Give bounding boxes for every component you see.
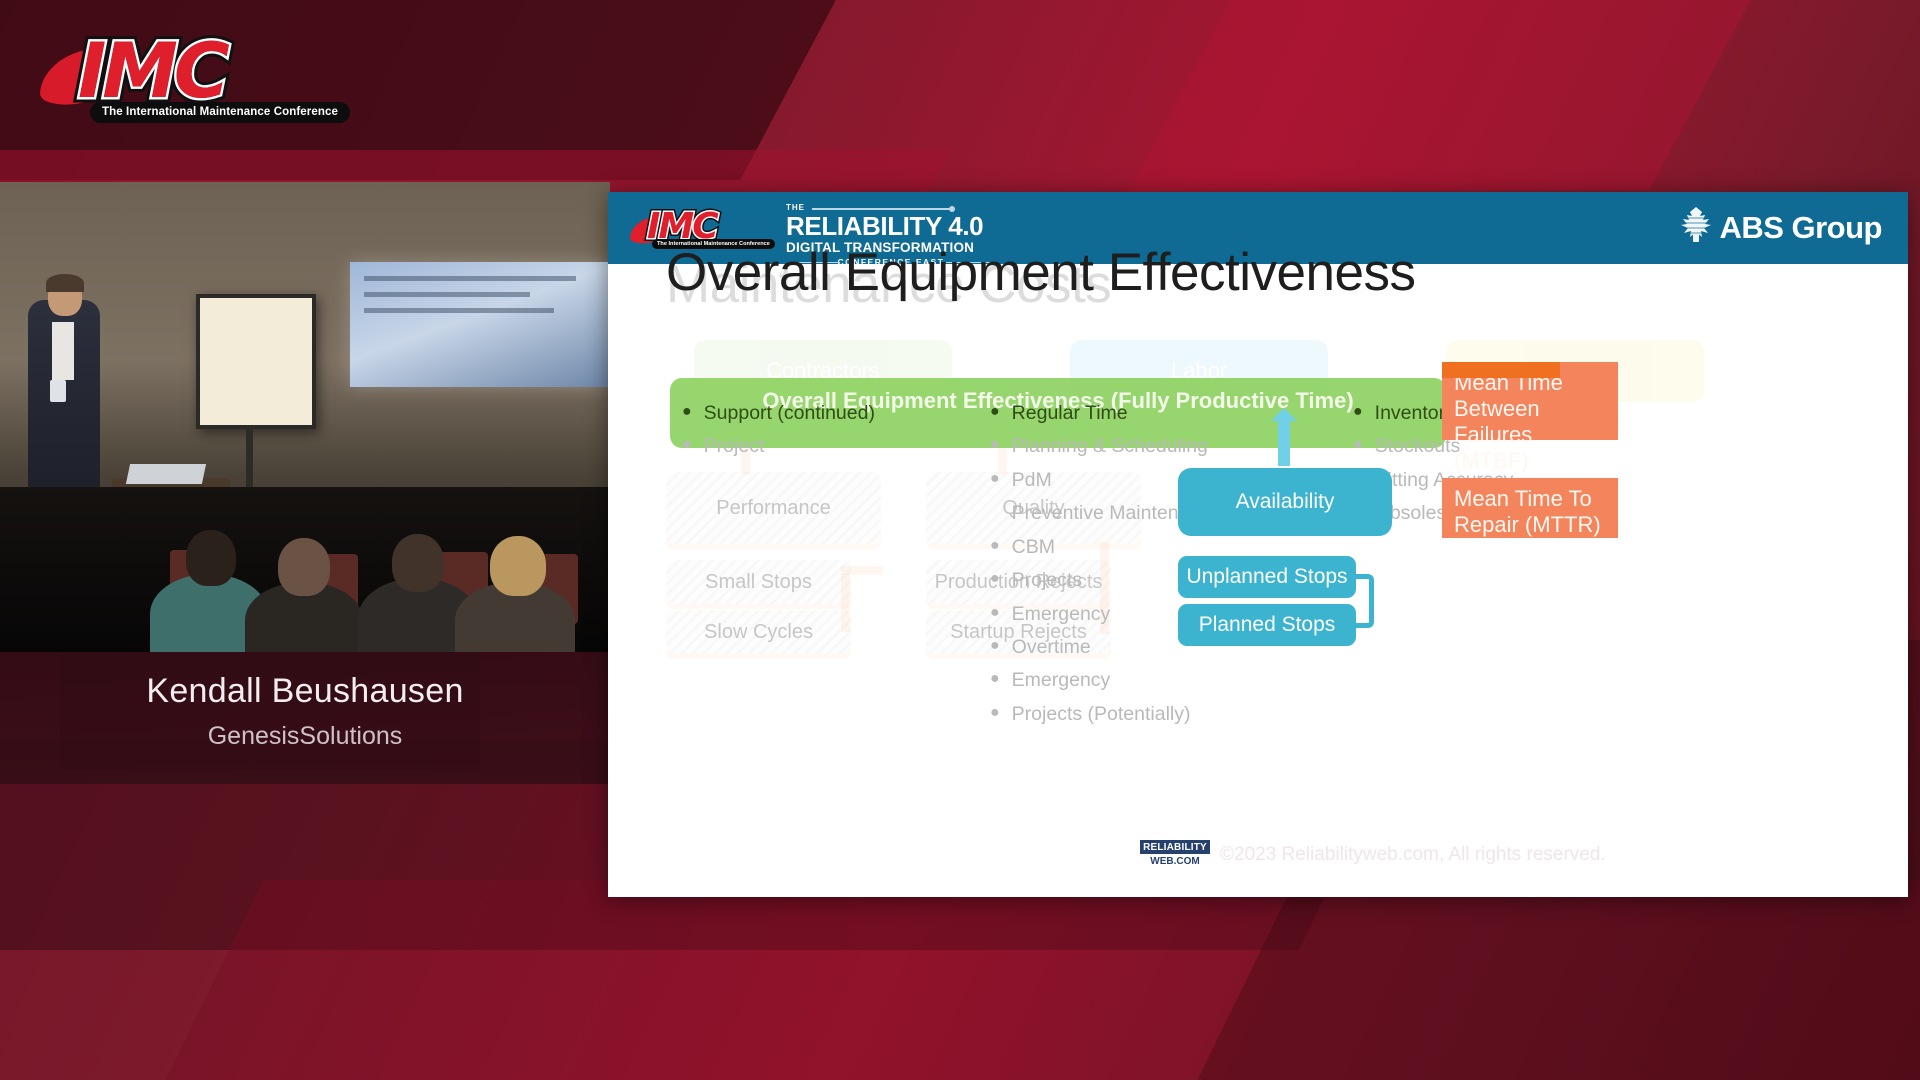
presenter-hair [46, 274, 84, 292]
bullet-dot: ● [990, 402, 1000, 421]
audience-head [278, 538, 330, 596]
box-label: Slow Cycles [704, 621, 813, 644]
speaker-name: Kendall Beushausen [0, 672, 610, 711]
unplanned-stops-box: Unplanned Stops [1178, 556, 1356, 598]
box-label: Planned Stops [1199, 613, 1336, 637]
availability-box: Availability [1178, 468, 1392, 536]
audience-head [186, 530, 236, 586]
metric-box-mttr: Mean Time To Repair (MTTR) [1442, 478, 1618, 538]
bullet-item: ● Support (continued) [682, 402, 875, 424]
box-label: Unplanned Stops [1186, 565, 1347, 589]
bullet-dot: ● [990, 469, 1000, 488]
bullet-text: Support (continued) [704, 402, 875, 424]
bullet-dot: ● [990, 669, 1000, 688]
bullet-item: ● Projects (Potentially) [990, 703, 1221, 725]
presenter-badge [50, 380, 66, 402]
oee-factor-box-performance: Performance [666, 472, 881, 544]
bullet-text: Planning & Scheduling [1012, 435, 1208, 457]
oee-factor-box-slow-cycles: Slow Cycles [666, 610, 851, 654]
bullet-dot: ● [990, 603, 1000, 622]
logo-line-2: WEB.COM [1140, 855, 1210, 869]
bullet-item: ● Emergency [990, 669, 1221, 691]
bullet-dot: ● [1353, 435, 1363, 454]
conference-name: RELIABILITY 4.0 [786, 213, 996, 240]
projection-screen [350, 262, 610, 387]
reliabilityweb-logo: RELIABILITY WEB.COM [1140, 840, 1210, 869]
abs-eagle-icon [1679, 206, 1713, 249]
imc-tagline: The International Maintenance Conference [90, 102, 350, 123]
box-label: Performance [716, 497, 831, 520]
connector-arrow [841, 574, 850, 632]
box-label: Availability [1236, 490, 1335, 514]
bullet-dot: ● [990, 636, 1000, 655]
bullet-text: CBM [1012, 536, 1055, 558]
oee-factor-box-small-stops: Small Stops [666, 560, 851, 604]
availability-up-arrow [1278, 420, 1290, 466]
speaker-video-feed: IMC [0, 182, 610, 652]
box-label: Mean Time To Repair (MTTR) [1454, 486, 1601, 537]
bullet-dot: ● [990, 435, 1000, 454]
audience-head [392, 534, 444, 592]
bullet-item: ● Project [682, 435, 875, 457]
bullet-text: Regular Time [1012, 402, 1128, 424]
imc-logo: IMC IMC The International Maintenance Co… [40, 22, 320, 122]
bullet-text: Overtime [1012, 636, 1091, 658]
bullet-dot: ● [990, 569, 1000, 588]
presenter-shirt [52, 322, 74, 380]
speaker-nameplate: Kendall Beushausen GenesisSolutions [0, 652, 610, 784]
metric-box-mtbf-accent [1442, 362, 1560, 378]
bullet-text: Emergency [1012, 669, 1111, 691]
bullet-text: Projects (Potentially) [1012, 703, 1191, 725]
screen-root: IMC IMC The International Maintenance Co… [0, 0, 1920, 1080]
box-label: Mean Time Between Failures (MTBF) [1454, 370, 1563, 473]
bullet-dot: ● [990, 703, 1000, 722]
bullet-item: ● CBM [990, 536, 1221, 558]
bullet-dot: ● [682, 435, 692, 454]
bullet-text: Emergency [1012, 603, 1111, 625]
connector-arrow [841, 566, 883, 575]
stops-bracket [1356, 574, 1374, 628]
bullet-item: ● Planning & Scheduling [990, 435, 1221, 457]
box-label: Small Stops [705, 571, 812, 594]
logo-line-1: RELIABILITY [1140, 840, 1210, 854]
bullet-text: Project [704, 435, 765, 457]
sponsor-logo: ABS Group [1679, 206, 1882, 249]
conference-the-label: THE [786, 203, 996, 212]
slide-title: Overall Equipment Effectiveness [666, 242, 1415, 303]
bullet-item: ● Regular Time [990, 402, 1221, 424]
the-text: THE [786, 203, 805, 212]
page-footer: RELIABILITY WEB.COM ©2023 Reliabilityweb… [1140, 840, 1606, 869]
background-shape [1129, 0, 1750, 190]
bullet-text: PdM [1012, 469, 1052, 491]
laptop [126, 464, 206, 484]
divider-rule [812, 208, 950, 210]
speaker-organization: GenesisSolutions [0, 722, 610, 751]
presentation-slide: IMC IMC The International Maintenance Co… [608, 192, 1908, 897]
audience-head [490, 536, 546, 596]
planned-stops-box: Planned Stops [1178, 604, 1356, 646]
bullet-text: Projects [1012, 569, 1082, 591]
sponsor-name: ABS Group [1719, 210, 1882, 246]
divider-dot [949, 206, 955, 212]
copyright-text: ©2023 Reliabilityweb.com, All rights res… [1220, 844, 1606, 866]
bullet-column-contractors: ● Support (continued) ● Project [682, 402, 875, 469]
bullet-dot: ● [1353, 402, 1363, 421]
bullet-dot: ● [682, 402, 692, 421]
flipchart [196, 294, 316, 429]
bullet-dot: ● [990, 536, 1000, 555]
